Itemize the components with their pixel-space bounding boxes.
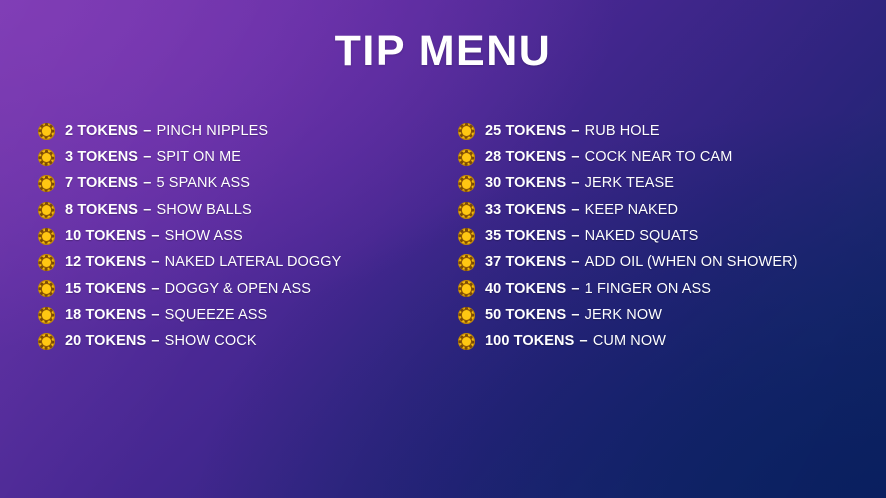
- tip-separator: –: [566, 307, 584, 323]
- tip-separator: –: [146, 307, 164, 323]
- tip-unit: TOKENS: [505, 307, 566, 323]
- tip-description: CUM NOW: [593, 333, 666, 349]
- tip-menu-row: 12 TOKENS – NAKED LATERAL DOGGY: [38, 249, 341, 275]
- tip-unit: TOKENS: [505, 228, 566, 244]
- tip-amount: 37: [485, 254, 501, 270]
- tip-separator: –: [138, 202, 156, 218]
- tip-menu-row: 2 TOKENS – PINCH NIPPLES: [38, 118, 341, 144]
- poker-chip-icon: [458, 149, 475, 166]
- tip-menu-row-label: 10 TOKENS – SHOW ASS: [65, 229, 243, 244]
- tip-unit: TOKENS: [77, 202, 138, 218]
- tip-menu-row-label: 20 TOKENS – SHOW COCK: [65, 334, 257, 349]
- tip-separator: –: [566, 228, 584, 244]
- tip-menu-row-label: 25 TOKENS – RUB HOLE: [485, 124, 660, 139]
- poker-chip-icon: [38, 280, 55, 297]
- tip-unit: TOKENS: [505, 202, 566, 218]
- tip-separator: –: [566, 254, 584, 270]
- tip-description: PINCH NIPPLES: [157, 123, 269, 139]
- tip-menu-row: 30 TOKENS – JERK TEASE: [458, 171, 798, 197]
- tip-separator: –: [566, 202, 584, 218]
- tip-menu-row: 40 TOKENS – 1 FINGER ON ASS: [458, 276, 798, 302]
- tip-amount: 28: [485, 149, 501, 165]
- page-title: TIP MENU: [0, 30, 886, 73]
- tip-menu-row: 3 TOKENS – SPIT ON ME: [38, 144, 341, 170]
- tip-amount: 50: [485, 307, 501, 323]
- tip-amount: 18: [65, 307, 81, 323]
- tip-amount: 33: [485, 202, 501, 218]
- tip-separator: –: [146, 254, 164, 270]
- poker-chip-icon: [38, 254, 55, 271]
- tip-amount: 10: [65, 228, 81, 244]
- tip-menu-row: 28 TOKENS – COCK NEAR TO CAM: [458, 144, 798, 170]
- tip-menu-row-label: 50 TOKENS – JERK NOW: [485, 308, 662, 323]
- tip-description: NAKED LATERAL DOGGY: [165, 254, 342, 270]
- tip-separator: –: [138, 123, 156, 139]
- tip-menu-row: 15 TOKENS – DOGGY & OPEN ASS: [38, 276, 341, 302]
- tip-unit: TOKENS: [505, 175, 566, 191]
- tip-unit: TOKENS: [85, 281, 146, 297]
- tip-separator: –: [138, 175, 156, 191]
- tip-unit: TOKENS: [77, 123, 138, 139]
- poker-chip-icon: [38, 123, 55, 140]
- tip-amount: 15: [65, 281, 81, 297]
- tip-description: ADD OIL (WHEN ON SHOWER): [585, 254, 798, 270]
- poker-chip-icon: [38, 149, 55, 166]
- tip-unit: TOKENS: [85, 254, 146, 270]
- tip-menu-row-label: 30 TOKENS – JERK TEASE: [485, 176, 674, 191]
- tip-separator: –: [138, 149, 156, 165]
- tip-amount: 20: [65, 333, 81, 349]
- poker-chip-icon: [38, 307, 55, 324]
- tip-menu-columns: 2 TOKENS – PINCH NIPPLES3 TOKENS – SPIT …: [0, 118, 886, 368]
- tip-menu-poster: TIP MENU 2 TOKENS – PINCH NIPPLES3 TOKEN…: [0, 0, 886, 498]
- tip-amount: 40: [485, 281, 501, 297]
- poker-chip-icon: [458, 254, 475, 271]
- tip-separator: –: [574, 333, 592, 349]
- poker-chip-icon: [38, 228, 55, 245]
- tip-menu-row: 8 TOKENS – SHOW BALLS: [38, 197, 341, 223]
- tip-amount: 25: [485, 123, 501, 139]
- tip-menu-row-label: 12 TOKENS – NAKED LATERAL DOGGY: [65, 255, 341, 270]
- tip-list-right-column: 25 TOKENS – RUB HOLE28 TOKENS – COCK NEA…: [458, 118, 798, 355]
- tip-menu-row: 37 TOKENS – ADD OIL (WHEN ON SHOWER): [458, 249, 798, 275]
- tip-menu-row: 25 TOKENS – RUB HOLE: [458, 118, 798, 144]
- tip-menu-row-label: 2 TOKENS – PINCH NIPPLES: [65, 124, 268, 139]
- tip-separator: –: [146, 228, 164, 244]
- poker-chip-icon: [458, 202, 475, 219]
- tip-menu-row-label: 35 TOKENS – NAKED SQUATS: [485, 229, 698, 244]
- tip-amount: 12: [65, 254, 81, 270]
- tip-menu-row-label: 3 TOKENS – SPIT ON ME: [65, 150, 241, 165]
- poker-chip-icon: [38, 175, 55, 192]
- tip-description: JERK TEASE: [585, 175, 674, 191]
- tip-amount: 3: [65, 149, 73, 165]
- tip-unit: TOKENS: [505, 149, 566, 165]
- tip-menu-row-label: 33 TOKENS – KEEP NAKED: [485, 203, 678, 218]
- tip-description: 5 SPANK ASS: [157, 175, 251, 191]
- tip-menu-row-label: 15 TOKENS – DOGGY & OPEN ASS: [65, 282, 311, 297]
- tip-menu-row-label: 37 TOKENS – ADD OIL (WHEN ON SHOWER): [485, 255, 798, 270]
- poker-chip-icon: [458, 307, 475, 324]
- tip-description: NAKED SQUATS: [585, 228, 699, 244]
- tip-unit: TOKENS: [505, 123, 566, 139]
- tip-menu-row: 7 TOKENS – 5 SPANK ASS: [38, 171, 341, 197]
- tip-amount: 30: [485, 175, 501, 191]
- tip-separator: –: [566, 281, 584, 297]
- poker-chip-icon: [458, 123, 475, 140]
- tip-menu-row: 33 TOKENS – KEEP NAKED: [458, 197, 798, 223]
- tip-menu-row-label: 18 TOKENS – SQUEEZE ASS: [65, 308, 267, 323]
- tip-amount: 7: [65, 175, 73, 191]
- tip-menu-row: 18 TOKENS – SQUEEZE ASS: [38, 302, 341, 328]
- tip-description: SHOW COCK: [165, 333, 257, 349]
- tip-description: SHOW ASS: [165, 228, 243, 244]
- tip-amount: 100: [485, 333, 510, 349]
- poker-chip-icon: [458, 175, 475, 192]
- poker-chip-icon: [458, 333, 475, 350]
- poker-chip-icon: [38, 333, 55, 350]
- tip-separator: –: [566, 149, 584, 165]
- tip-unit: TOKENS: [505, 254, 566, 270]
- tip-unit: TOKENS: [85, 228, 146, 244]
- tip-description: JERK NOW: [585, 307, 662, 323]
- tip-unit: TOKENS: [85, 307, 146, 323]
- tip-unit: TOKENS: [77, 149, 138, 165]
- tip-menu-row-label: 8 TOKENS – SHOW BALLS: [65, 203, 252, 218]
- tip-description: RUB HOLE: [585, 123, 660, 139]
- tip-menu-row: 10 TOKENS – SHOW ASS: [38, 223, 341, 249]
- tip-separator: –: [566, 175, 584, 191]
- tip-description: DOGGY & OPEN ASS: [165, 281, 311, 297]
- tip-list-left-column: 2 TOKENS – PINCH NIPPLES3 TOKENS – SPIT …: [38, 118, 341, 355]
- tip-separator: –: [146, 333, 164, 349]
- poker-chip-icon: [38, 202, 55, 219]
- tip-menu-row: 50 TOKENS – JERK NOW: [458, 302, 798, 328]
- tip-unit: TOKENS: [505, 281, 566, 297]
- tip-unit: TOKENS: [514, 333, 575, 349]
- poker-chip-icon: [458, 228, 475, 245]
- tip-description: COCK NEAR TO CAM: [585, 149, 733, 165]
- tip-description: SHOW BALLS: [157, 202, 252, 218]
- tip-unit: TOKENS: [77, 175, 138, 191]
- tip-description: 1 FINGER ON ASS: [585, 281, 711, 297]
- tip-description: SPIT ON ME: [157, 149, 242, 165]
- tip-menu-row: 20 TOKENS – SHOW COCK: [38, 328, 341, 354]
- tip-unit: TOKENS: [85, 333, 146, 349]
- poker-chip-icon: [458, 280, 475, 297]
- tip-amount: 2: [65, 123, 73, 139]
- tip-separator: –: [566, 123, 584, 139]
- tip-separator: –: [146, 281, 164, 297]
- tip-menu-row-label: 7 TOKENS – 5 SPANK ASS: [65, 176, 250, 191]
- tip-description: SQUEEZE ASS: [165, 307, 268, 323]
- tip-menu-row: 35 TOKENS – NAKED SQUATS: [458, 223, 798, 249]
- tip-menu-row-label: 100 TOKENS – CUM NOW: [485, 334, 666, 349]
- tip-menu-row: 100 TOKENS – CUM NOW: [458, 328, 798, 354]
- tip-menu-row-label: 40 TOKENS – 1 FINGER ON ASS: [485, 282, 711, 297]
- tip-amount: 8: [65, 202, 73, 218]
- tip-description: KEEP NAKED: [585, 202, 678, 218]
- tip-menu-row-label: 28 TOKENS – COCK NEAR TO CAM: [485, 150, 732, 165]
- tip-amount: 35: [485, 228, 501, 244]
